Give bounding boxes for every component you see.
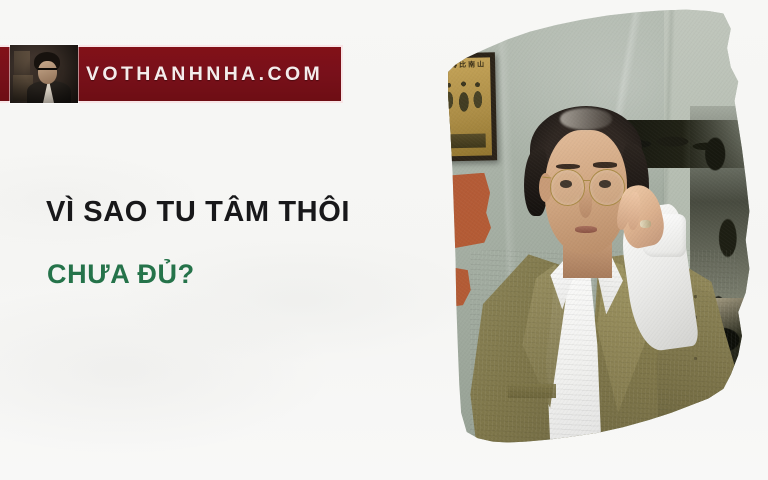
finger-ring [640, 220, 651, 228]
headline-line-1: VÌ SAO TU TÂM THÔI [46, 196, 350, 229]
brand-name: VOTHANHNHA.COM [86, 63, 323, 86]
hair-gray-streak [560, 108, 612, 130]
logo-vignette [10, 45, 78, 103]
poster-canvas: 壽 比 南 山 [0, 0, 768, 480]
headline-line-2: CHƯA ĐỦ? [47, 259, 195, 290]
eyebrow-right [593, 162, 617, 167]
eyeglasses-temple [541, 176, 551, 184]
jacket-pocket-flap [508, 384, 556, 398]
eyeglasses-bridge [583, 180, 590, 188]
eyeglasses-lens-left [550, 169, 585, 206]
site-logo[interactable] [10, 45, 78, 103]
mouth [575, 226, 597, 233]
